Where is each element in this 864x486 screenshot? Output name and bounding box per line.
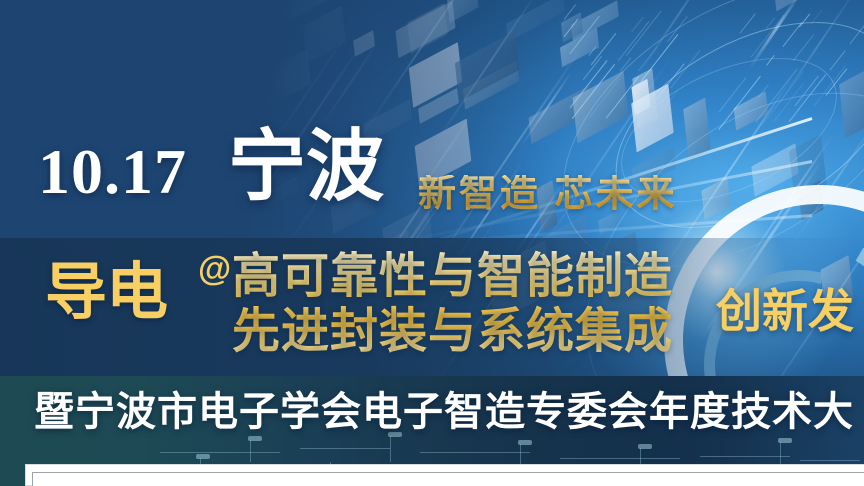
cube-shape [247,49,311,116]
light-filament [606,76,639,118]
light-filament [761,70,804,125]
light-filament [750,14,784,57]
event-city: 宁波 [228,128,384,206]
light-filament [626,11,662,57]
headline-line-2: 先进封装与系统集成 [232,305,673,360]
light-filament [617,21,649,61]
light-filament [718,78,746,113]
light-filament [591,33,617,65]
light-filament [793,34,814,61]
event-slogan: 新智造 芯未来 [418,175,678,213]
conference-poster: 10.17 宁波 新智造 芯未来 导电 @ 高可靠性与智能制造 先进封装与系统集… [0,0,864,486]
light-filament [620,57,631,71]
light-filament [670,50,700,88]
light-filament [668,16,688,42]
light-filaments [564,0,864,150]
cube-shape [303,6,346,63]
headline-line-1: 高可靠性与智能制造 [232,250,673,305]
light-filament [799,14,810,28]
light-filament [637,47,656,72]
white-panel-inner [32,472,864,486]
headline: 高可靠性与智能制造 先进封装与系统集成 [232,250,673,359]
light-filament [657,64,685,100]
brand-name: 导电 [45,262,167,324]
cube-shape [354,31,376,58]
light-filament [766,55,775,66]
brand-at-symbol: @ [198,252,231,286]
light-filament [564,19,579,41]
light-filament [755,69,797,122]
light-filament [813,65,846,107]
light-filament [758,84,769,97]
light-filament [588,45,596,55]
light-filament [589,78,621,118]
light-filament [811,10,823,25]
event-date: 10.17 [38,140,187,204]
right-slogan: 创新发 [716,288,854,334]
light-filament [826,68,848,95]
light-filament [850,14,864,45]
event-subtitle: 暨宁波市电子学会电子智造专委会年度技术大 [34,392,854,432]
light-filament [740,13,756,33]
